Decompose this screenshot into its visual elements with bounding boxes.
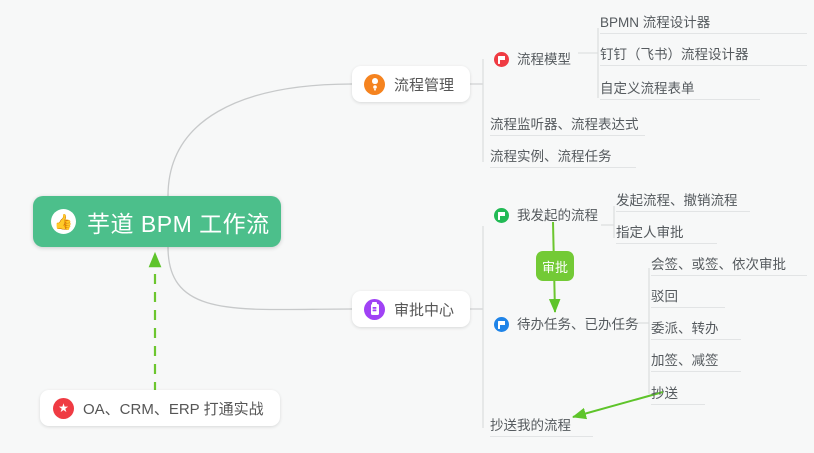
node-integration-practice-label: OA、CRM、ERP 打通实战: [83, 398, 264, 419]
node-delegate-transfer[interactable]: 委派、转办: [651, 314, 741, 340]
flag-icon-red: [494, 52, 509, 67]
node-instance-task-label: 流程实例、流程任务: [490, 150, 612, 164]
root-node-label: 芋道 BPM 工作流: [87, 205, 270, 239]
node-delegate-transfer-label: 委派、转办: [651, 322, 719, 336]
node-process-model-label: 流程模型: [517, 53, 571, 67]
node-listener-expression-label: 流程监听器、流程表达式: [490, 118, 639, 132]
node-countersign[interactable]: 会签、或签、依次审批: [651, 250, 807, 276]
annotation-badge-approve-label: 审批: [542, 257, 568, 276]
node-countersign-label: 会签、或签、依次审批: [651, 258, 786, 272]
node-add-remove-sign[interactable]: 加签、减签: [651, 346, 741, 372]
node-cc-label: 抄送: [651, 387, 678, 401]
branch-node-approval-center[interactable]: 审批中心: [352, 291, 470, 327]
thumbs-up-icon: [51, 209, 76, 234]
connector-root-to-flow: [168, 84, 352, 196]
node-bpmn-designer-label: BPMN 流程设计器: [600, 16, 710, 30]
node-cc-to-me[interactable]: 抄送我的流程: [490, 411, 593, 437]
star-icon: [53, 398, 74, 419]
node-start-cancel-label: 发起流程、撤销流程: [616, 194, 738, 208]
mindmap-canvas: 芋道 BPM 工作流 流程管理 流程模型 BPMN 流程设计器 钉钉（飞书）流程…: [0, 0, 814, 453]
connector-root-to-approval: [168, 247, 352, 310]
node-start-cancel[interactable]: 发起流程、撤销流程: [616, 186, 750, 212]
lightbulb-icon: [364, 74, 385, 95]
annotation-badge-approve: 审批: [536, 251, 574, 281]
node-listener-expression[interactable]: 流程监听器、流程表达式: [490, 110, 645, 136]
node-add-remove-sign-label: 加签、减签: [651, 354, 719, 368]
flag-icon-blue: [494, 317, 509, 332]
node-cc-to-me-label: 抄送我的流程: [490, 419, 571, 433]
branch-approval-center-label: 审批中心: [394, 299, 454, 320]
node-reject-label: 驳回: [651, 290, 678, 304]
node-process-model[interactable]: 流程模型: [494, 45, 578, 71]
clipboard-icon: [364, 299, 385, 320]
node-my-initiated-label: 我发起的流程: [517, 209, 598, 223]
node-instance-task[interactable]: 流程实例、流程任务: [490, 142, 636, 168]
flag-icon-green: [494, 208, 509, 223]
branch-node-flow-management[interactable]: 流程管理: [352, 66, 470, 102]
root-node[interactable]: 芋道 BPM 工作流: [33, 196, 281, 247]
node-assignee-approve-label: 指定人审批: [616, 226, 684, 240]
branch-flow-management-label: 流程管理: [394, 74, 454, 95]
node-reject[interactable]: 驳回: [651, 282, 725, 308]
node-todo-done[interactable]: 待办任务、已办任务: [494, 310, 636, 336]
node-custom-form[interactable]: 自定义流程表单: [600, 74, 760, 100]
node-assignee-approve[interactable]: 指定人审批: [616, 218, 717, 244]
node-my-initiated[interactable]: 我发起的流程: [494, 201, 601, 227]
node-todo-done-label: 待办任务、已办任务: [517, 318, 639, 332]
node-bpmn-designer[interactable]: BPMN 流程设计器: [600, 8, 807, 34]
node-cc[interactable]: 抄送: [651, 379, 705, 405]
node-dingtalk-designer-label: 钉钉（飞书）流程设计器: [600, 48, 749, 62]
node-custom-form-label: 自定义流程表单: [600, 82, 695, 96]
node-dingtalk-designer[interactable]: 钉钉（飞书）流程设计器: [600, 40, 807, 66]
node-integration-practice[interactable]: OA、CRM、ERP 打通实战: [40, 390, 280, 426]
